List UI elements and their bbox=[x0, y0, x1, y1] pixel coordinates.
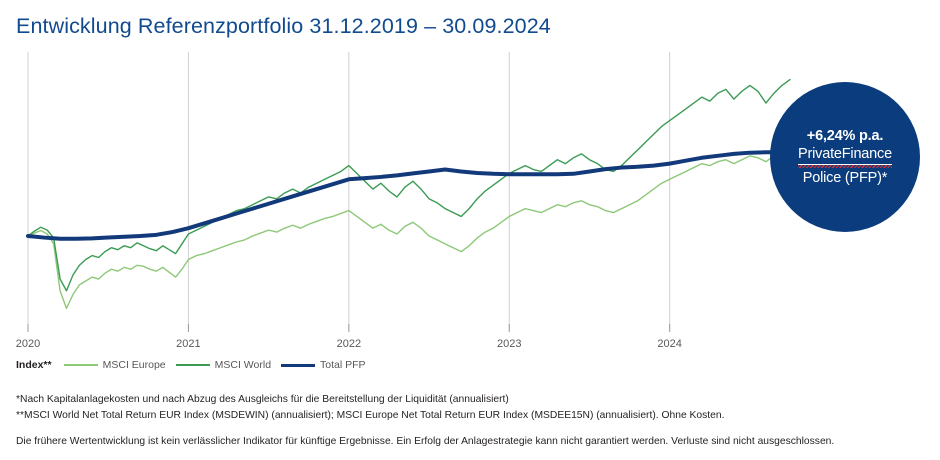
x-tick-label-2021: 2021 bbox=[176, 338, 200, 350]
series-line-msci-world bbox=[28, 80, 790, 291]
x-tick-label-2020: 2020 bbox=[16, 338, 40, 350]
legend-swatch-icon bbox=[176, 364, 210, 366]
legend-item-msci-world[interactable]: MSCI World bbox=[176, 359, 271, 371]
x-tick-label-2023: 2023 bbox=[497, 338, 521, 350]
footnote-1: *Nach Kapitalanlagekosten und nach Abzug… bbox=[16, 392, 936, 408]
badge-value: +6,24% p.a. bbox=[807, 127, 883, 146]
legend-label: MSCI Europe bbox=[103, 359, 166, 371]
x-tick-label-2022: 2022 bbox=[337, 338, 361, 350]
x-tick-label-2024: 2024 bbox=[657, 338, 681, 350]
legend-label: Total PFP bbox=[320, 359, 366, 371]
performance-badge: +6,24% p.a. PrivateFinance Police (PFP)* bbox=[770, 82, 920, 232]
badge-product-name: PrivateFinance bbox=[798, 145, 892, 165]
legend-title: Index** bbox=[16, 359, 52, 371]
legend-item-total-pfp[interactable]: Total PFP bbox=[281, 359, 366, 371]
page-title: Entwicklung Referenzportfolio 31.12.2019… bbox=[16, 14, 551, 39]
chart-page: Entwicklung Referenzportfolio 31.12.2019… bbox=[0, 0, 940, 460]
chart-legend: Index** MSCI EuropeMSCI WorldTotal PFP bbox=[16, 358, 376, 372]
x-axis: 20202021202220232024 bbox=[0, 334, 940, 354]
footnote-disclaimer: Die frühere Wertentwicklung ist kein ver… bbox=[16, 436, 936, 447]
legend-item-msci-europe[interactable]: MSCI Europe bbox=[64, 359, 166, 371]
footnotes: *Nach Kapitalanlagekosten und nach Abzug… bbox=[16, 392, 936, 447]
legend-swatch-icon bbox=[64, 364, 98, 366]
legend-label: MSCI World bbox=[215, 359, 271, 371]
footnote-2: **MSCI World Net Total Return EUR Index … bbox=[16, 408, 936, 424]
badge-product-suffix: Police (PFP)* bbox=[803, 169, 887, 188]
legend-swatch-icon bbox=[281, 364, 315, 367]
